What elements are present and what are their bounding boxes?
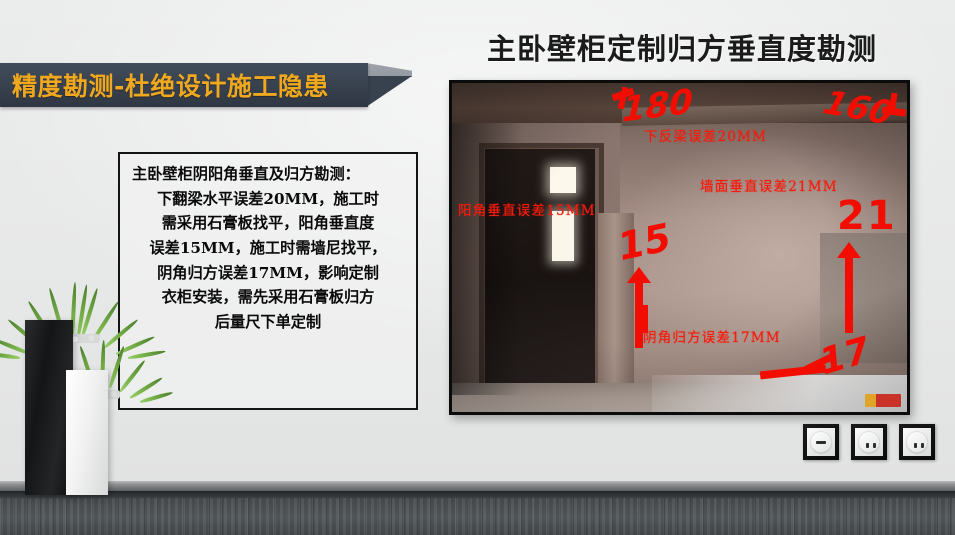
annotation-wall-vertical: 墙面垂直误差21MM [700, 175, 838, 195]
wall-socket-group [803, 424, 935, 460]
annotation-outer-corner: 阳角垂直误差15MM [458, 199, 596, 219]
photo-watermark [865, 394, 901, 407]
note-line-4: 阴角归方误差17MM，影响定制 [132, 261, 404, 286]
banner-arrow-tail [366, 76, 412, 107]
annotation-inner-corner: 阴角归方误差17MM [643, 326, 781, 346]
note-line-2: 需采用石膏板找平，阳角垂直度 [132, 211, 404, 236]
dimmer-switch[interactable] [803, 424, 839, 460]
power-socket-2[interactable] [899, 424, 935, 460]
annotation-beam-error: 下反梁误差20MM [644, 125, 767, 145]
site-photo[interactable]: 180 160 下反梁误差20MM 墙面垂直误差21MM 阳角垂直误差15MM … [449, 80, 910, 415]
banner-body: 精度勘测-杜绝设计施工隐患 [0, 63, 368, 107]
power-socket-1[interactable] [851, 424, 887, 460]
page-title: 主卧壁柜定制归方垂直度勘测 [487, 26, 877, 68]
handwritten-tick-inner [642, 305, 648, 333]
slide-canvas: 主卧壁柜定制归方垂直度勘测 精度勘测-杜绝设计施工隐患 主卧壁柜阴阳角垂直及归方… [0, 0, 955, 535]
handwritten-mark-21: 21 [837, 193, 897, 239]
arrow-up-21 [845, 255, 853, 333]
ribbon-banner: 精度勘测-杜绝设计施工隐患 [0, 63, 412, 111]
wood-floor [0, 491, 955, 535]
planter-white [66, 370, 108, 495]
banner-fold-highlight [366, 63, 412, 77]
note-line-1: 下翻梁水平误差20MM，施工时 [132, 187, 404, 212]
note-line-0: 主卧壁柜阴阳角垂直及归方勘测： [132, 162, 404, 187]
banner-label: 精度勘测-杜绝设计施工隐患 [0, 67, 329, 103]
decor-planters [0, 280, 150, 495]
note-line-3: 误差15MM，施工时需墙尼找平， [132, 236, 404, 261]
survey-notes-card: 主卧壁柜阴阳角垂直及归方勘测： 下翻梁水平误差20MM，施工时 需采用石膏板找平… [118, 152, 418, 410]
note-line-5: 衣柜安装，需先采用石膏板归方 [132, 285, 404, 310]
note-line-6: 后量尺下单定制 [132, 310, 404, 335]
